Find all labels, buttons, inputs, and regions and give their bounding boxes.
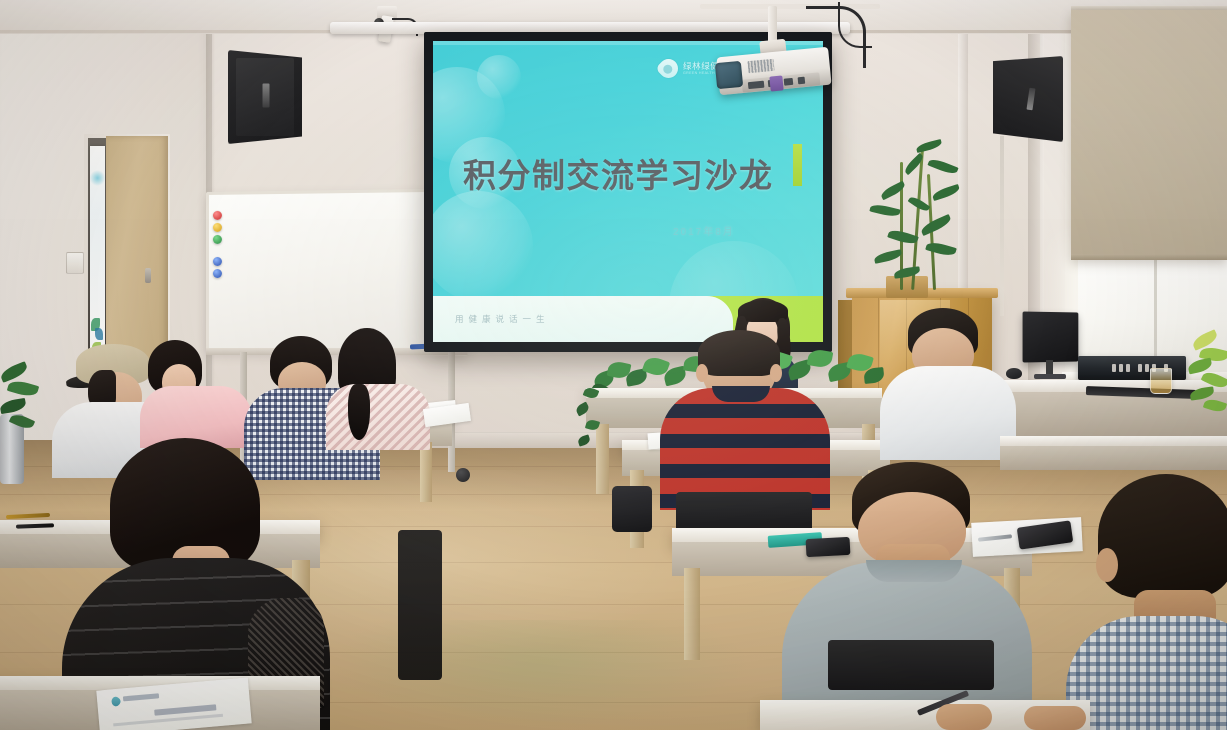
glass-of-tea [1150, 368, 1172, 394]
collar [712, 386, 770, 402]
water-drop-icon [655, 55, 682, 82]
projector-vga-plug [769, 75, 783, 91]
ear-left [696, 364, 708, 382]
window-plant [1188, 330, 1227, 420]
hair [698, 330, 780, 376]
door-handle[interactable] [145, 268, 151, 283]
hand [936, 704, 992, 730]
hand-2 [1024, 706, 1086, 730]
slide-title: 积分制交流学习沙龙 [463, 149, 774, 197]
hair [1098, 474, 1227, 598]
roller-blind[interactable] [1071, 10, 1227, 260]
poster-graphic [90, 170, 105, 186]
blind-bottom-bar[interactable] [1071, 254, 1227, 260]
slide-date: 2017年8月 [673, 223, 735, 238]
vine-left [574, 388, 608, 458]
speaker-cable-conduit [1000, 136, 1004, 316]
magnet-blue[interactable] [213, 257, 222, 266]
woman-with-long-hair [320, 328, 430, 446]
desk-leg [420, 442, 432, 502]
slide-bubble [433, 191, 533, 301]
woman-in-pink [140, 340, 250, 440]
desktop-monitor[interactable] [1023, 311, 1079, 362]
magnet-yellow[interactable] [213, 223, 222, 232]
man-in-white-polo [880, 308, 1016, 458]
magnet-green[interactable] [213, 235, 222, 244]
desk-right-back-front [1000, 446, 1227, 470]
slide-accent-bar [793, 144, 802, 186]
speaker-brand-label [263, 84, 270, 108]
ear [1096, 548, 1118, 582]
light-switch[interactable] [66, 252, 84, 274]
bag-on-floor [612, 486, 652, 532]
projector-lens-icon [715, 61, 743, 89]
potted-bamboo [872, 140, 968, 290]
monitor-base [1034, 374, 1066, 379]
slide-footer-text: 用健康说话一生 [455, 313, 550, 325]
chair-mid-gap[interactable] [398, 530, 442, 680]
handout-line [113, 714, 223, 727]
collar [866, 560, 962, 582]
handout-title-text [154, 704, 216, 715]
slide-bubble [477, 55, 521, 99]
magnet-blue-2[interactable] [213, 269, 222, 278]
hair-tail [348, 384, 370, 440]
handout-logo-text [123, 693, 159, 701]
projector-vents [747, 59, 774, 73]
white-polo-torso [880, 366, 1016, 460]
checked-shirt-torso-right [1066, 616, 1227, 730]
magnet-red[interactable] [213, 211, 222, 220]
ear-right [770, 364, 782, 382]
wall-poster [90, 146, 105, 370]
classroom-photo: 绿林绿健居 GREEN HEALTH LIVING 积分制交流学习沙龙 2017… [0, 0, 1227, 730]
whiteboard-caster [456, 468, 470, 482]
chair-back-right[interactable] [828, 640, 994, 690]
handout-logo-icon [109, 695, 122, 708]
plant-foreground-left [0, 362, 42, 432]
desk-leg-right-mid [684, 568, 700, 660]
man-in-checked-shirt [1080, 474, 1227, 730]
projector-cable-2 [838, 2, 872, 48]
